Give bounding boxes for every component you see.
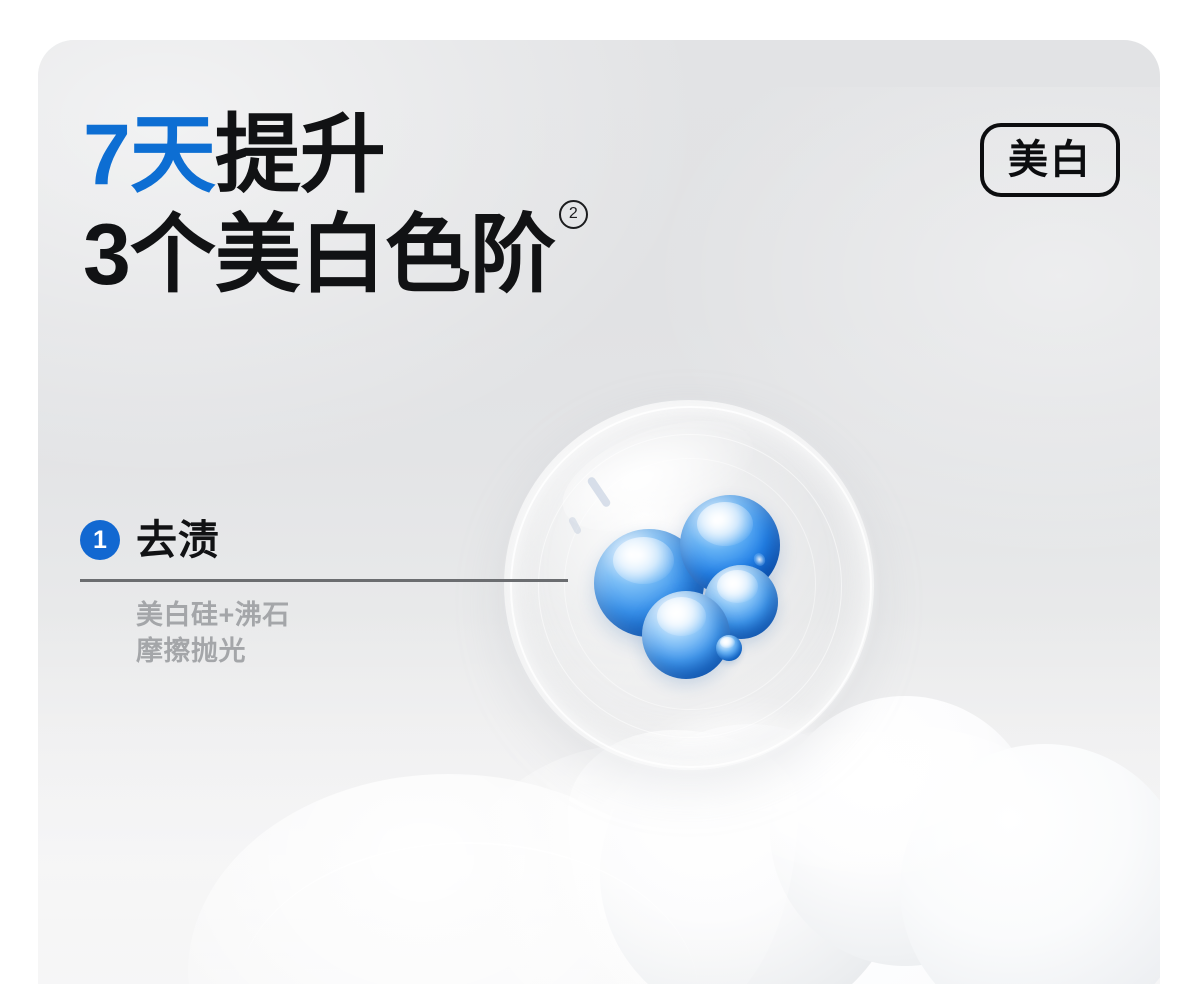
- feature-divider: [80, 579, 568, 582]
- footnote-marker-icon: 2: [559, 200, 588, 229]
- glass-shape-lower-center: [458, 744, 818, 984]
- tooth-lobe-base: [680, 814, 1060, 984]
- feature-subtext-line-1: 美白硅+沸石: [136, 598, 620, 634]
- headline: 7天提升 3个美白色阶2: [83, 112, 584, 298]
- feature-number-badge: 1: [80, 520, 120, 560]
- whitening-badge-label: 美白: [1008, 140, 1092, 180]
- feature-item-1: 1 去渍 美白硅+沸石 摩擦抛光: [80, 515, 620, 669]
- headline-line-2: 3个美白色阶2: [83, 212, 584, 298]
- feature-subtext: 美白硅+沸石 摩擦抛光: [136, 598, 620, 669]
- whitening-badge: 美白: [980, 123, 1120, 197]
- tooth-lobe-middle: [770, 696, 1040, 966]
- sphere-bottom-icon: [642, 591, 730, 679]
- headline-line-1: 7天提升: [83, 112, 584, 198]
- promo-banner: 7天提升 3个美白色阶2 美白: [0, 0, 1200, 984]
- feature-item-1-header: 1 去渍: [80, 515, 620, 565]
- glass-arc: [238, 842, 698, 984]
- glass-shape-lower-left: [188, 774, 708, 984]
- feature-title: 去渍: [136, 520, 220, 561]
- headline-accent-text: 7天: [83, 107, 215, 203]
- promo-card: 7天提升 3个美白色阶2 美白: [38, 40, 1160, 984]
- sphere-tiny-icon: [716, 635, 742, 661]
- blue-sphere-cluster: [594, 495, 804, 695]
- headline-line-2-text: 3个美白色阶: [83, 207, 555, 303]
- tooth-lobe-right: [900, 744, 1160, 984]
- feature-subtext-line-2: 摩擦抛光: [136, 634, 620, 670]
- headline-line-1-rest: 提升: [215, 107, 385, 203]
